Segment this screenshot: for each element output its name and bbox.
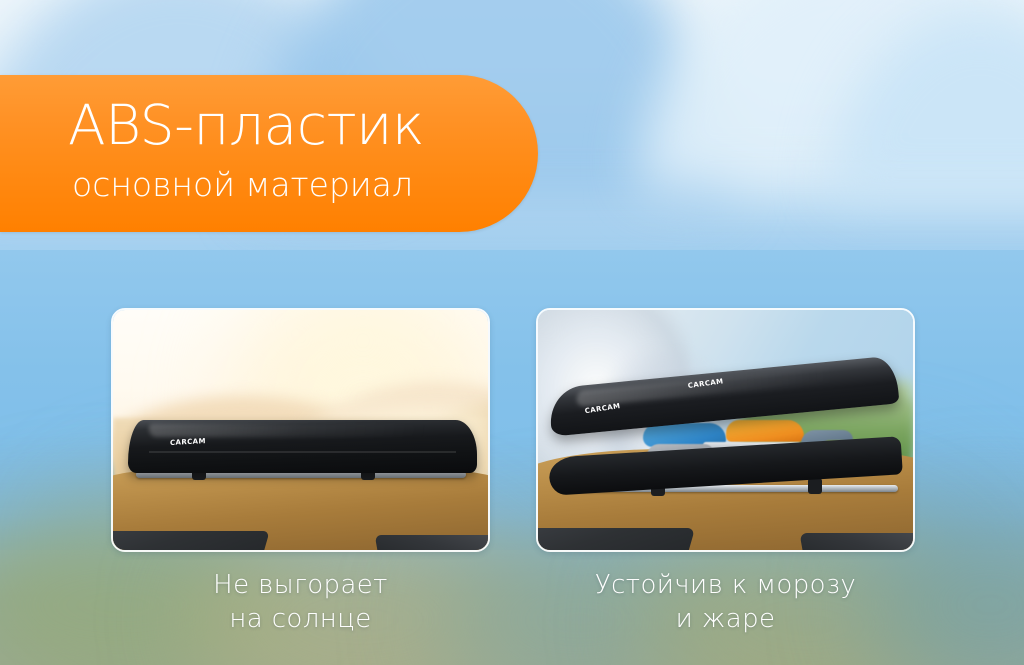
roofbox-closed: CARCAM	[128, 420, 477, 473]
caption-right-line2: и жаре	[536, 602, 915, 636]
feature-card-right[interactable]: CARCAM CARCAM	[536, 308, 915, 552]
headline-banner: ABS-пластик основной материал	[0, 75, 538, 232]
cargo-orange-bag	[726, 420, 805, 442]
car-rear-window	[538, 528, 695, 550]
caption-left-line1: Не выгорает	[111, 568, 490, 602]
photo-winter-summer-roofbox: CARCAM CARCAM	[538, 310, 913, 550]
caption-right: Устойчив к морозу и жаре	[536, 568, 915, 636]
headline-subtitle: основной материал	[72, 163, 413, 207]
roofbox-seam	[149, 451, 456, 453]
car-side-window-right	[800, 533, 913, 550]
roofbox-gloss-highlight	[149, 424, 428, 438]
caption-left-line2: на солнце	[111, 602, 490, 636]
feature-card-left[interactable]: CARCAM	[111, 308, 490, 552]
roofbox-brand-logo: CARCAM	[170, 437, 206, 447]
caption-right-line1: Устойчив к морозу	[536, 568, 915, 602]
headline-title: ABS-пластик	[68, 90, 424, 160]
photo-sunny-roofbox: CARCAM	[113, 310, 488, 550]
caption-left: Не выгорает на солнце	[111, 568, 490, 636]
car-side-window	[375, 535, 488, 550]
roof-mount-4	[808, 478, 822, 494]
car-windshield	[113, 531, 270, 550]
